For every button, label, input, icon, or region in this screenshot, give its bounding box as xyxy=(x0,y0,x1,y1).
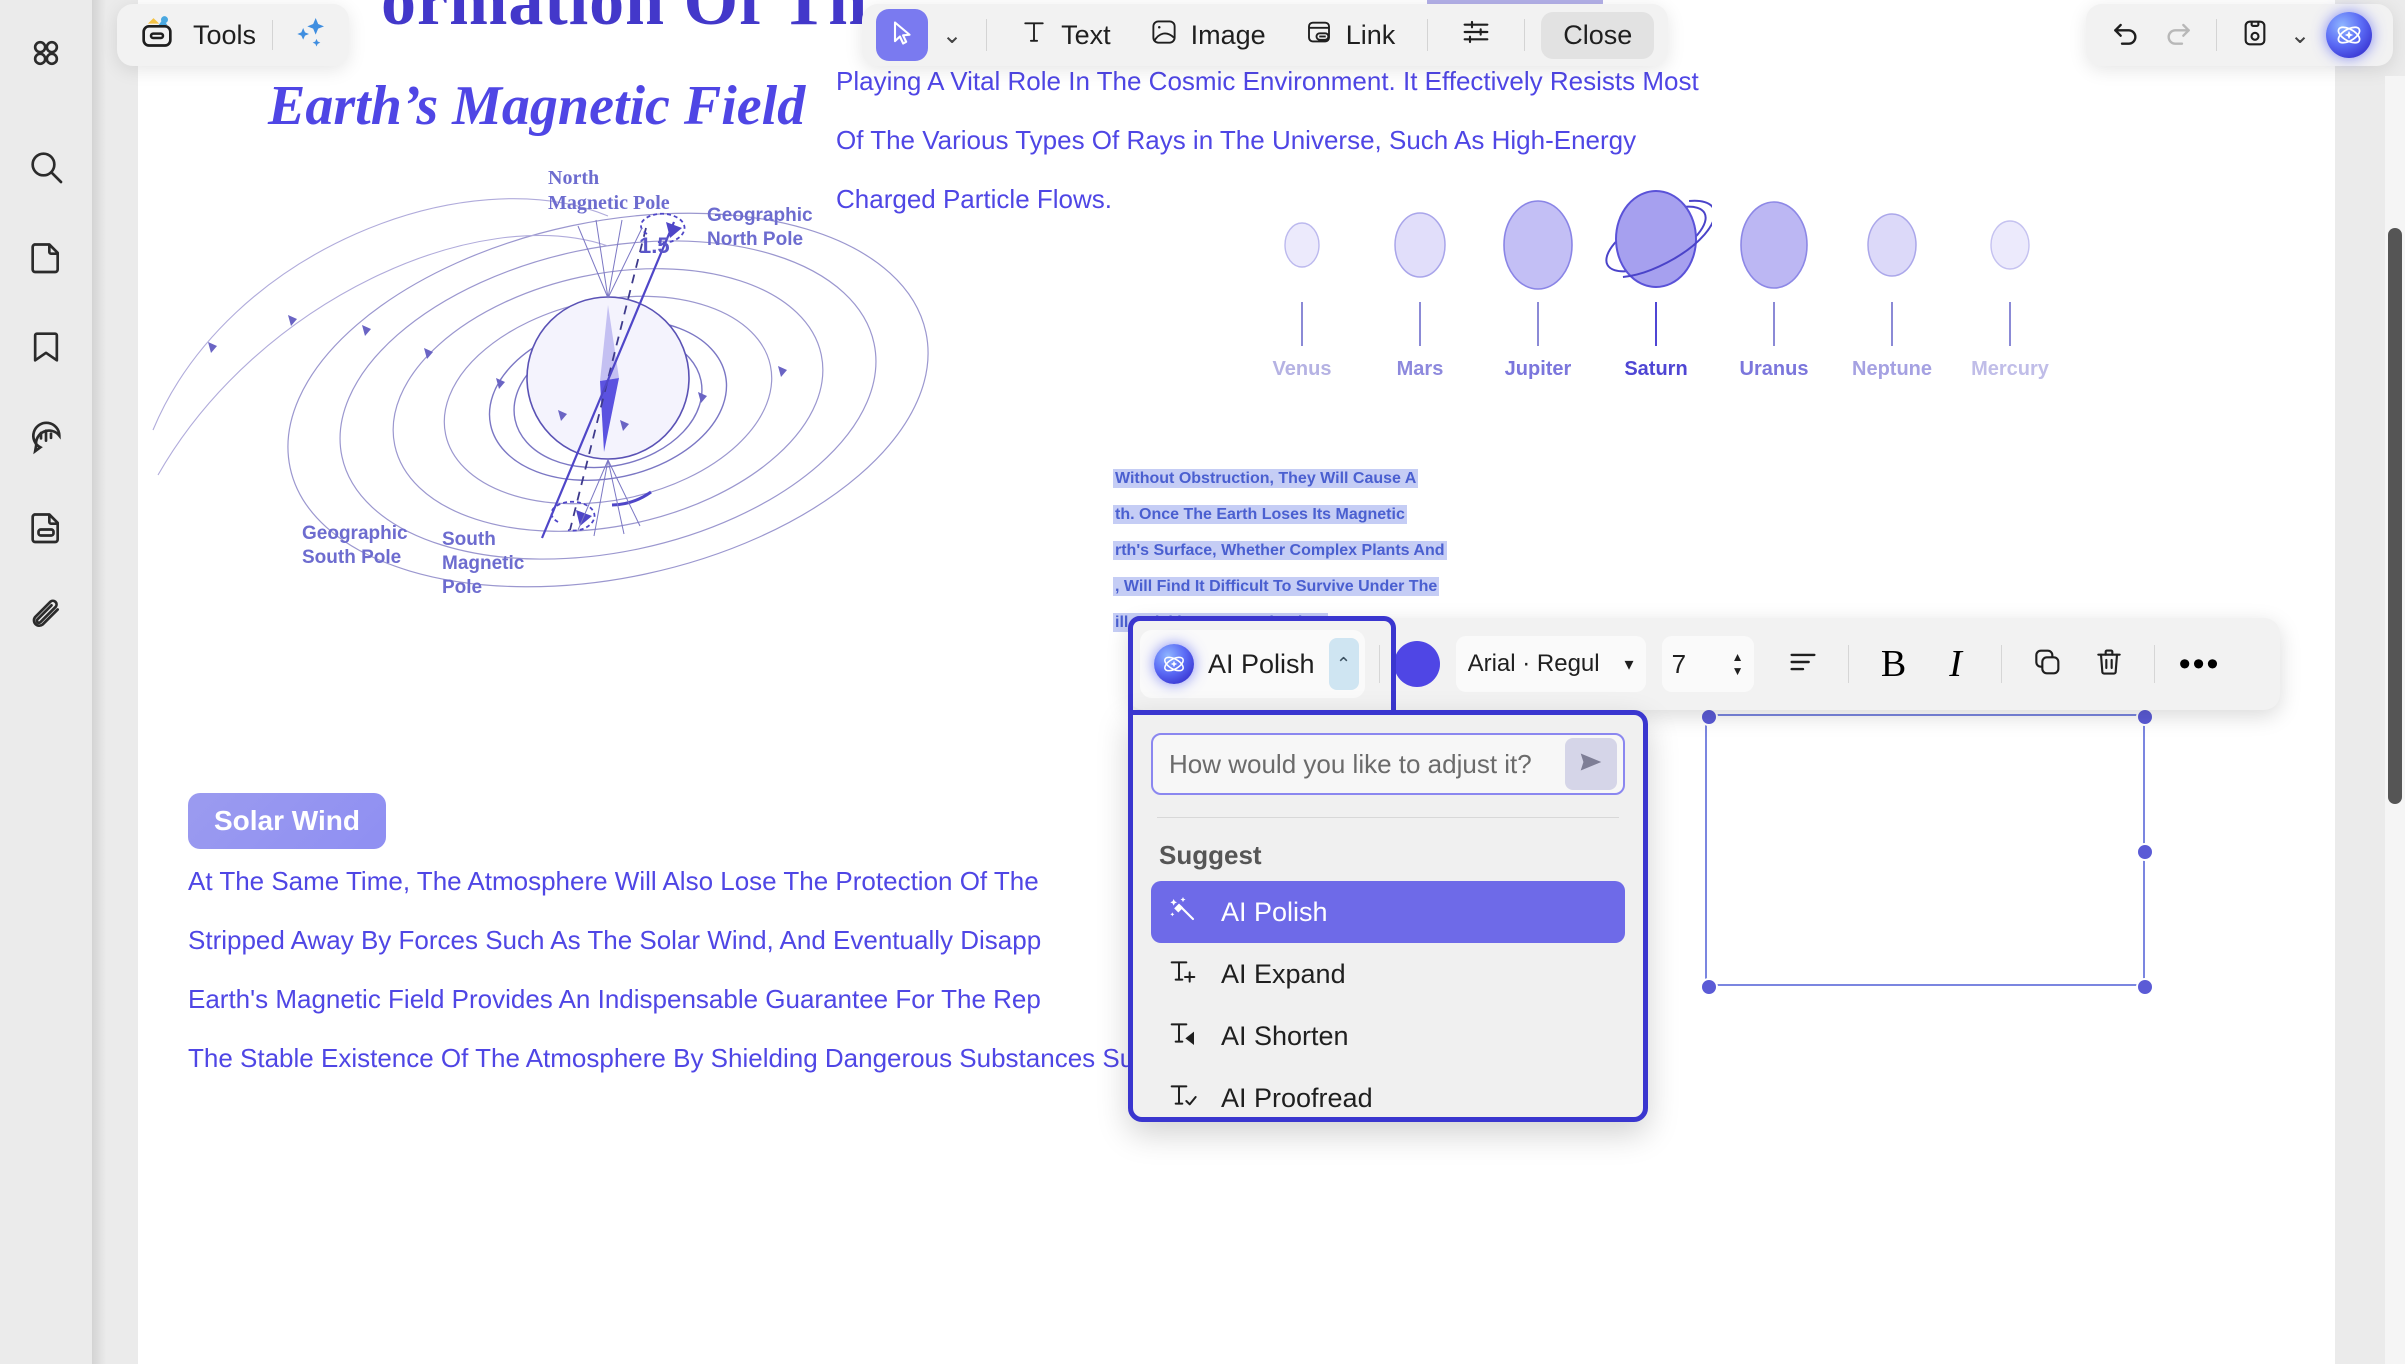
image-icon xyxy=(1149,17,1179,54)
format-toolbar: AI Polish ⌃ Arial · Regul ▾ 7 ▲ ▼ xyxy=(1128,618,2280,710)
tools-icon xyxy=(137,13,177,58)
vertical-scrollbar-track[interactable] xyxy=(2385,76,2405,1364)
selection-handle[interactable] xyxy=(2136,843,2154,861)
ai-polish-label: AI Polish xyxy=(1208,649,1315,680)
planet-label: Saturn xyxy=(1624,358,1687,381)
text-plus-icon xyxy=(1167,955,1199,994)
planet-label: Neptune xyxy=(1852,358,1932,381)
planet-body-icon xyxy=(1280,217,1324,278)
undo-icon xyxy=(2110,17,2142,54)
save-button[interactable] xyxy=(2231,11,2279,59)
tools-pill[interactable]: Tools xyxy=(117,4,349,66)
planet-label: Uranus xyxy=(1740,358,1809,381)
comment-icon xyxy=(26,417,66,457)
ai-orb-icon xyxy=(2326,12,2372,58)
right-toolbar: ⌄ xyxy=(2086,4,2393,66)
selected-line: rth's Surface, Whether Complex Plants An… xyxy=(1113,541,1447,560)
format-divider xyxy=(1848,645,1849,683)
planet-item[interactable]: Venus xyxy=(1242,192,1362,381)
image-tool-label: Image xyxy=(1191,20,1266,51)
sidebar-item-apps-grid[interactable] xyxy=(15,22,77,84)
paragraph-bottom[interactable]: Earth's Magnetic Field Provides An Indis… xyxy=(188,970,1041,1029)
sidebar-item-bookmarks[interactable] xyxy=(15,316,77,378)
undo-button[interactable] xyxy=(2102,11,2150,59)
search-icon xyxy=(26,147,66,187)
bookmark-icon xyxy=(26,327,66,367)
sidebar-item-pages[interactable] xyxy=(15,226,77,288)
chevron-down-icon: ⌄ xyxy=(2290,21,2310,50)
font-family-value: Arial · Regul xyxy=(1468,650,1617,678)
redo-button[interactable] xyxy=(2154,11,2202,59)
chevron-up-icon[interactable]: ⌃ xyxy=(1329,638,1359,690)
ai-orb-icon xyxy=(1154,644,1194,684)
redo-icon xyxy=(2162,17,2194,54)
planet-tick xyxy=(1537,302,1539,346)
planet-label: Mercury xyxy=(1971,358,2049,381)
planet-item[interactable]: Uranus xyxy=(1714,192,1834,381)
link-icon xyxy=(1304,17,1334,54)
cursor-icon xyxy=(888,19,916,52)
duplicate-button[interactable] xyxy=(2016,633,2078,695)
delete-button[interactable] xyxy=(2078,633,2140,695)
selected-line: Without Obstruction, They Will Cause A xyxy=(1113,469,1418,488)
planet-tick xyxy=(1773,302,1775,346)
ai-suggest-header: Suggest xyxy=(1151,818,1625,881)
paragraph-top[interactable]: Of The Various Types Of Rays in The Univ… xyxy=(836,111,1636,170)
toolbar-divider xyxy=(1524,19,1525,51)
ai-menu-item-label: AI Expand xyxy=(1221,959,1346,990)
planet-label: Mars xyxy=(1397,358,1444,381)
bold-icon: B xyxy=(1881,642,1906,686)
planet-body-icon xyxy=(1986,215,2034,280)
planet-tick xyxy=(2009,302,2011,346)
page-subtitle: Earth’s Magnetic Field xyxy=(268,74,805,138)
ai-assistant-button[interactable] xyxy=(2321,11,2377,59)
select-tool-dropdown[interactable]: ⌄ xyxy=(934,15,970,56)
planet-tick xyxy=(1655,302,1657,346)
selection-handle[interactable] xyxy=(1700,708,1718,726)
ai-polish-button[interactable]: AI Polish ⌃ xyxy=(1140,630,1365,698)
font-size-value: 7 xyxy=(1672,649,1686,680)
toolbar-divider xyxy=(986,19,987,51)
text-shorten-icon xyxy=(1167,1017,1199,1056)
paragraph-bottom[interactable]: Stripped Away By Forces Such As The Sola… xyxy=(188,911,1041,970)
italic-button[interactable]: I xyxy=(1925,633,1987,695)
font-family-select[interactable]: Arial · Regul ▾ xyxy=(1456,636,1646,692)
image-tool-button[interactable]: Image xyxy=(1133,11,1282,60)
font-size-stepper[interactable]: 7 ▲ ▼ xyxy=(1662,636,1754,692)
attachment-icon xyxy=(26,597,66,637)
right-toolbar-divider xyxy=(2216,19,2217,51)
text-tool-label: Text xyxy=(1061,20,1111,51)
ai-sparkle-icon[interactable] xyxy=(289,13,329,58)
planet-label: Jupiter xyxy=(1505,358,1572,381)
format-divider xyxy=(2001,645,2002,683)
diagram-label-south-magnetic-pole: South Magnetic Pole xyxy=(442,528,524,599)
saturn-icon xyxy=(1600,187,1712,308)
planet-body-icon xyxy=(1862,207,1922,288)
sidebar-item-attachments[interactable] xyxy=(15,586,77,648)
send-icon xyxy=(1578,749,1604,780)
text-tool-button[interactable]: Text xyxy=(1003,11,1127,60)
apps-grid-icon xyxy=(26,33,66,73)
text-check-icon xyxy=(1167,1079,1199,1118)
diagram-label-tilt-angle: 1.5 xyxy=(639,232,670,260)
main-toolbar: ⌄ Text Image xyxy=(862,4,1668,66)
ai-menu-item-ai-polish[interactable]: AI Polish xyxy=(1151,881,1625,943)
planet-item[interactable]: Neptune xyxy=(1832,192,1952,381)
selection-handle[interactable] xyxy=(2136,978,2154,996)
planet-item[interactable]: Mercury xyxy=(1950,192,2070,381)
selected-line: th. Once The Earth Loses Its Magnetic xyxy=(1113,505,1407,524)
format-divider xyxy=(2154,645,2155,683)
planet-tick xyxy=(1891,302,1893,346)
ai-menu-item-label: AI Shorten xyxy=(1221,1021,1349,1052)
diagram-label-geographic-south-pole: Geographic South Pole xyxy=(302,522,408,570)
link-tool-label: Link xyxy=(1346,20,1396,51)
planet-tick xyxy=(1301,302,1303,346)
link-tool-button[interactable]: Link xyxy=(1288,11,1412,60)
form-icon xyxy=(26,507,66,547)
bold-button[interactable]: B xyxy=(1863,633,1925,695)
more-options-button[interactable]: ••• xyxy=(2169,633,2231,695)
save-icon xyxy=(2239,17,2271,54)
selected-line: , Will Find It Difficult To Survive Unde… xyxy=(1113,577,1439,596)
trash-icon xyxy=(2093,646,2125,683)
ai-suggest-dropdown: Suggest AI Polish AI Expand xyxy=(1128,710,1648,1122)
section-chip-solar-wind[interactable]: Solar Wind xyxy=(188,793,386,849)
paragraph-bottom[interactable]: At The Same Time, The Atmosphere Will Al… xyxy=(188,852,1039,911)
left-rail xyxy=(0,0,92,1364)
select-tool-button[interactable] xyxy=(876,9,928,61)
text-icon xyxy=(1019,17,1049,54)
text-color-swatch[interactable] xyxy=(1394,641,1440,687)
align-left-button[interactable] xyxy=(1772,633,1834,695)
page-icon xyxy=(26,237,66,277)
diagram-label-north-magnetic-pole: North Magnetic Pole xyxy=(548,166,670,216)
save-dropdown-button[interactable]: ⌄ xyxy=(2283,11,2317,59)
ai-menu-item-ai-proofread[interactable]: AI Proofread xyxy=(1151,1067,1625,1122)
italic-icon: I xyxy=(1949,642,1962,686)
planet-body-icon xyxy=(1733,194,1815,301)
sidebar-item-comments[interactable] xyxy=(15,406,77,468)
planet-label: Venus xyxy=(1273,358,1332,381)
chevron-down-icon: ⌄ xyxy=(942,21,962,50)
sidebar-item-forms[interactable] xyxy=(15,496,77,558)
tools-label: Tools xyxy=(193,20,256,51)
tools-divider xyxy=(272,20,273,50)
send-button[interactable] xyxy=(1565,738,1617,790)
planets-chart: Venus Mars Jupiter xyxy=(1242,192,2242,382)
close-button[interactable]: Close xyxy=(1541,12,1654,59)
planet-body-icon xyxy=(1389,206,1451,289)
toolbar-divider xyxy=(1427,19,1428,51)
sliders-icon xyxy=(1460,16,1492,55)
ai-prompt-field[interactable] xyxy=(1151,733,1625,795)
format-divider xyxy=(1379,645,1380,683)
duplicate-icon xyxy=(2031,646,2063,683)
planet-tick xyxy=(1419,302,1421,346)
ai-menu-item-ai-shorten[interactable]: AI Shorten xyxy=(1151,1005,1625,1067)
stepper-down-icon[interactable]: ▼ xyxy=(1732,666,1744,676)
stepper-up-icon[interactable]: ▲ xyxy=(1732,652,1744,662)
selection-handle[interactable] xyxy=(2136,708,2154,726)
stepper-arrows[interactable]: ▲ ▼ xyxy=(1732,652,1744,676)
vertical-scrollbar-thumb[interactable] xyxy=(2388,228,2402,804)
paragraph-top[interactable]: Charged Particle Flows. xyxy=(836,170,1112,229)
planet-item[interactable]: Jupiter xyxy=(1478,192,1598,381)
ai-prompt-input[interactable] xyxy=(1167,748,1565,781)
diagram-label-geographic-north-pole: Geographic North Pole xyxy=(707,204,813,252)
sidebar-item-search[interactable] xyxy=(15,136,77,198)
selection-handle[interactable] xyxy=(1700,978,1718,996)
ai-menu-item-label: AI Proofread xyxy=(1221,1083,1373,1114)
planet-item-saturn[interactable]: Saturn xyxy=(1596,192,1716,381)
more-horizontal-icon: ••• xyxy=(2179,654,2221,674)
ai-menu-item-label: AI Polish xyxy=(1221,897,1328,928)
planet-item[interactable]: Mars xyxy=(1360,192,1480,381)
align-left-icon xyxy=(1786,645,1820,684)
settings-sliders-button[interactable] xyxy=(1444,10,1508,61)
chevron-down-icon: ▾ xyxy=(1625,654,1634,675)
page-title: ormation Of Th xyxy=(381,0,868,42)
ai-menu-item-ai-expand[interactable]: AI Expand xyxy=(1151,943,1625,1005)
magic-wand-icon xyxy=(1167,893,1199,932)
planet-body-icon xyxy=(1496,193,1580,302)
